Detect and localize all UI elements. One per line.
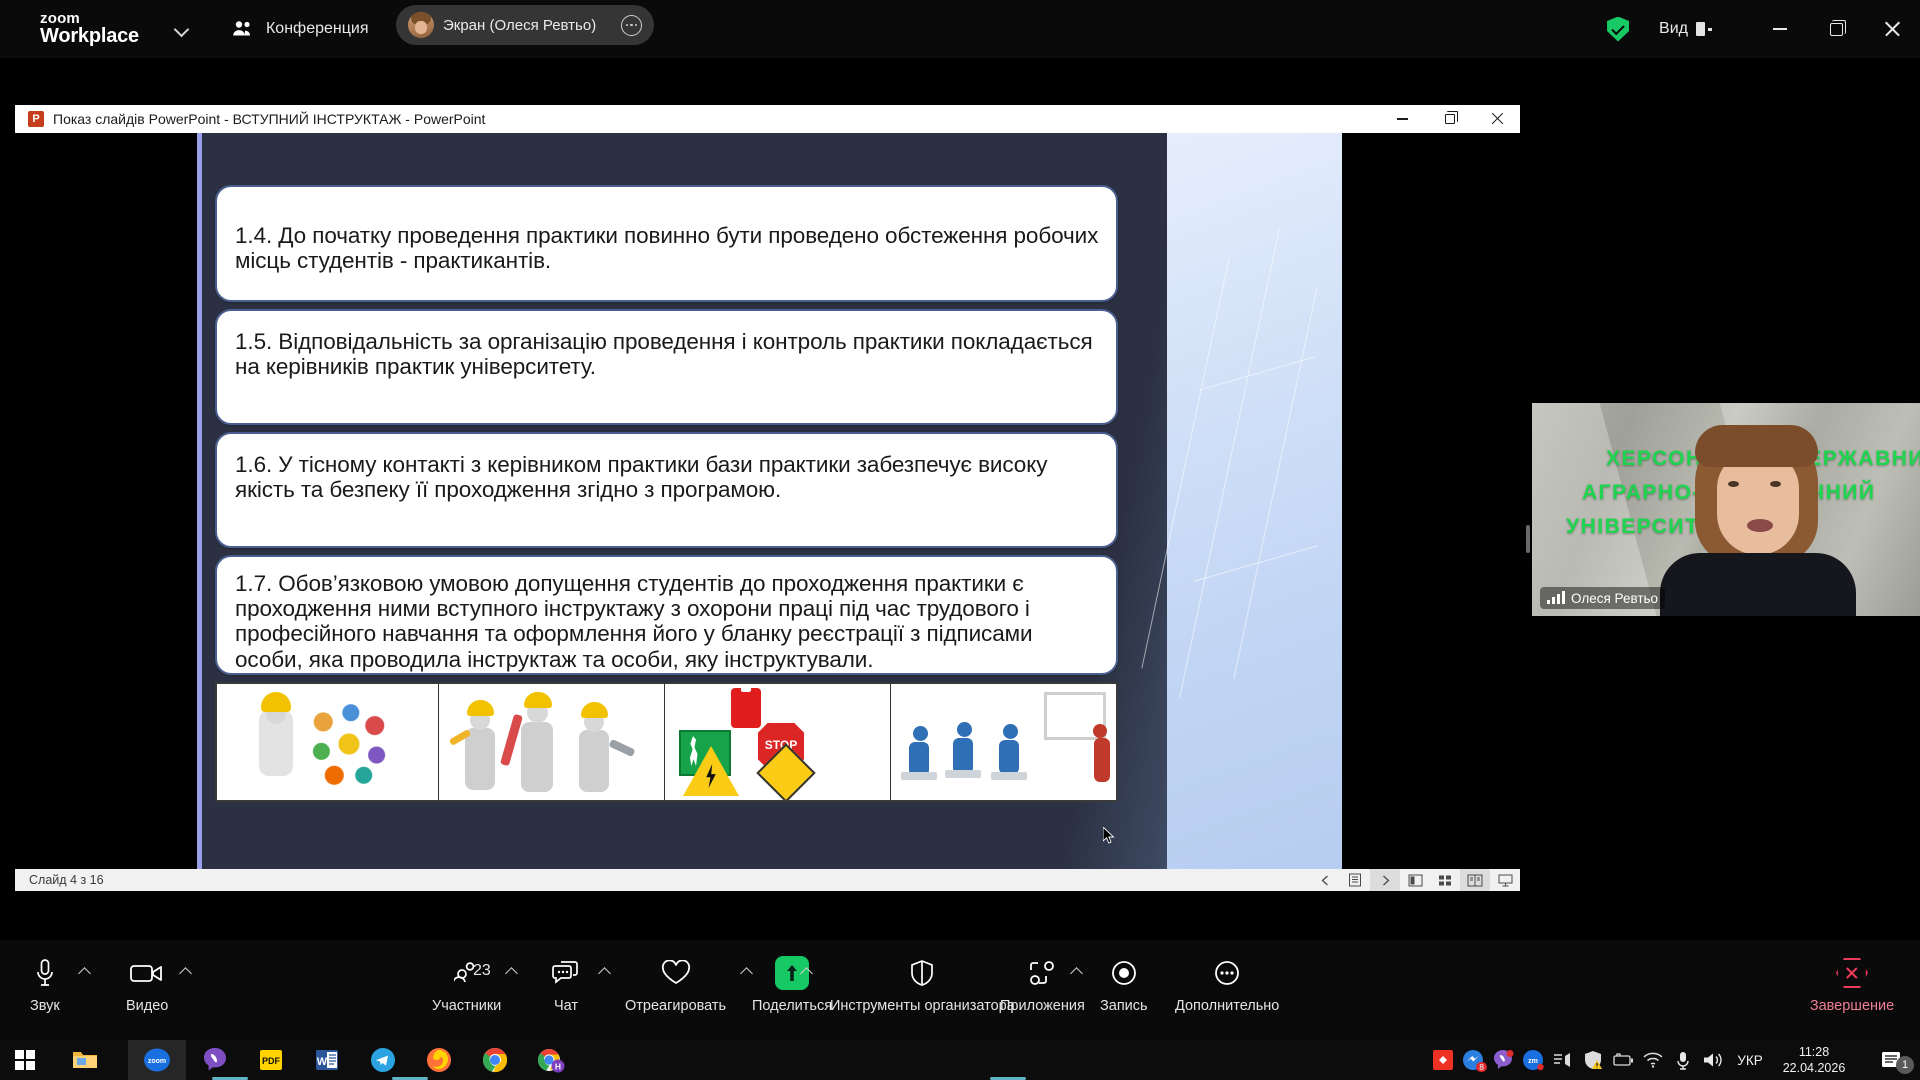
wifi-icon[interactable]	[1638, 1040, 1668, 1080]
share-label: Поделиться	[752, 998, 832, 1014]
record-icon	[1110, 954, 1138, 992]
viber-tray-icon[interactable]	[1488, 1040, 1518, 1080]
audio-options-caret-icon[interactable]	[78, 966, 92, 976]
ppt-maximize-button[interactable]	[1426, 105, 1473, 133]
share-options-caret-icon[interactable]	[800, 966, 814, 976]
anydesk-icon[interactable]	[1428, 1040, 1458, 1080]
windows-taskbar: zoom PDF W H 8 zm	[0, 1040, 1920, 1080]
svg-text:zoom: zoom	[148, 1058, 166, 1065]
participant-name: Олеся Ревтьо	[1571, 591, 1658, 606]
view-label: Вид	[1659, 20, 1688, 38]
slide-show-icon[interactable]	[1490, 869, 1520, 891]
end-call-icon	[1836, 954, 1868, 992]
chevron-down-icon[interactable]	[175, 22, 189, 36]
toolbar-video-button[interactable]: Видео	[126, 954, 168, 1014]
zoom-logo-line1: zoom	[40, 11, 139, 27]
reactions-label: Отреагировать	[625, 998, 726, 1014]
close-icon	[1884, 21, 1900, 37]
powerpoint-title: Показ слайдів PowerPoint - ВСТУПНИЙ ІНСТ…	[53, 111, 485, 127]
participant-body	[1660, 553, 1856, 616]
system-tray: 8 zm УКР	[1428, 1040, 1772, 1080]
zoom-icon[interactable]: zoom	[132, 1044, 182, 1076]
participant-eye-right	[1770, 481, 1781, 487]
telegram-icon[interactable]	[358, 1044, 408, 1076]
next-slide-icon[interactable]	[1370, 869, 1400, 891]
ppt-minimize-button[interactable]	[1379, 105, 1426, 133]
camera-icon	[129, 954, 165, 992]
titlebar-right-controls: Вид	[1607, 0, 1920, 58]
powerpoint-window-controls	[1379, 105, 1520, 133]
reading-view-icon[interactable]	[1460, 869, 1490, 891]
slide-text: 1.7. Обов’язковою умовою допущення студе…	[235, 571, 1102, 672]
clock-time: 11:28	[1766, 1044, 1862, 1060]
slide-sorter-icon[interactable]	[1430, 869, 1460, 891]
slide-text-box: 1.5. Відповідальність за організацію про…	[215, 309, 1118, 425]
security-warning-icon[interactable]	[1578, 1040, 1608, 1080]
toolbar-end-meeting-button[interactable]: Завершение	[1810, 954, 1894, 1014]
taskbar-clock[interactable]: 11:28 22.04.2026	[1766, 1044, 1862, 1076]
maximize-button[interactable]	[1808, 0, 1864, 58]
notes-icon[interactable]	[1340, 869, 1370, 891]
participant-video-tile[interactable]: ХЕРСОНСЬКИЙ ДЕРЖАВНИЙ АГРАРНО-ЕКОНОМІЧНИ…	[1532, 403, 1920, 616]
more-label: Дополнительно	[1175, 998, 1279, 1014]
word-icon[interactable]: W	[302, 1044, 352, 1076]
participant-eye-left	[1728, 481, 1739, 487]
mouse-cursor	[1103, 827, 1115, 844]
toolbar-record-button[interactable]: Запись	[1100, 954, 1148, 1014]
classroom-training-photo	[895, 684, 1116, 800]
zoom-logo-line2: Workplace	[40, 26, 139, 47]
slide-text-box: 1.6. У тісному контакті з керівником пра…	[215, 432, 1118, 548]
toolbar-share-button[interactable]: Поделиться	[752, 954, 832, 1014]
svg-text:H: H	[555, 1062, 561, 1072]
apps-label: Приложения	[1000, 998, 1085, 1014]
video-label: Видео	[126, 998, 168, 1014]
shared-screen-label: Экран (Олеся Ревтьо)	[443, 17, 612, 34]
previous-slide-icon[interactable]	[1310, 869, 1340, 891]
more-options-icon[interactable]	[621, 15, 642, 36]
more-dots-icon	[1213, 954, 1241, 992]
viber-icon[interactable]	[190, 1044, 240, 1076]
powerpoint-icon	[28, 111, 44, 127]
heart-icon	[661, 954, 691, 992]
shield-icon	[909, 954, 935, 992]
slide-decoration	[1167, 133, 1342, 869]
meeting-label: Конференция	[266, 20, 369, 38]
minimize-icon	[1397, 118, 1408, 119]
pdf-icon[interactable]: PDF	[246, 1044, 296, 1076]
restore-icon	[1830, 23, 1843, 36]
slide-text: 1.4. До початку проведення практики пови…	[235, 223, 1102, 273]
chrome-icon[interactable]	[470, 1044, 520, 1076]
toolbar-audio-button[interactable]: Звук	[30, 954, 60, 1014]
audio-label: Звук	[30, 998, 60, 1014]
zoom-meeting-toolbar: Звук Видео Участники 23 Чат Отреагироват…	[0, 940, 1920, 1040]
video-options-caret-icon[interactable]	[179, 966, 193, 976]
language-label: УКР	[1737, 1053, 1762, 1068]
toolbar-reactions-button[interactable]: Отреагировать	[625, 954, 726, 1014]
svg-text:zm: zm	[1528, 1058, 1538, 1065]
file-explorer-icon[interactable]	[60, 1044, 110, 1076]
chat-bubble-icon	[552, 954, 580, 992]
microphone-icon[interactable]	[1668, 1040, 1698, 1080]
minimize-button[interactable]	[1752, 0, 1808, 58]
slide-counter: Слайд 4 з 16	[29, 873, 104, 887]
safety-signs-photo: STOP	[669, 684, 891, 800]
shared-screen-area: Показ слайдів PowerPoint - ВСТУПНИЙ ІНСТ…	[15, 96, 1520, 908]
minimize-icon	[1773, 28, 1787, 30]
slide-accent-bar	[197, 133, 202, 869]
apps-options-caret-icon[interactable]	[1070, 966, 1084, 976]
view-button[interactable]: Вид	[1659, 20, 1712, 38]
windows-start-icon[interactable]	[0, 1044, 50, 1076]
workers-with-tools-photo	[443, 684, 665, 800]
meeting-tab[interactable]: Конференция	[232, 20, 369, 38]
participant-hair	[1695, 425, 1818, 467]
layout-icon	[1696, 22, 1712, 36]
slide-text: 1.6. У тісному контакті з керівником пра…	[235, 452, 1102, 502]
safety-worker-icons-photo	[217, 684, 439, 800]
slide-text: 1.5. Відповідальність за організацію про…	[235, 329, 1102, 379]
apps-icon	[1028, 954, 1056, 992]
avatar	[408, 12, 434, 38]
chat-options-caret-icon[interactable]	[598, 966, 612, 976]
record-label: Запись	[1100, 998, 1148, 1014]
chrome-profile-icon[interactable]: H	[526, 1044, 576, 1076]
participants-icon	[232, 20, 254, 38]
slide-canvas[interactable]: 1.4. До початку проведення практики пови…	[15, 133, 1520, 869]
normal-view-icon[interactable]	[1400, 869, 1430, 891]
restore-icon	[1445, 114, 1455, 124]
participants-count: 23	[473, 962, 491, 980]
close-button[interactable]	[1864, 0, 1920, 58]
network-signal-icon	[1547, 592, 1565, 604]
powerpoint-status-bar: Слайд 4 з 16	[15, 869, 1520, 891]
participants-options-caret-icon[interactable]	[505, 966, 519, 976]
battery-icon[interactable]	[1608, 1040, 1638, 1080]
toolbar-host-tools-button[interactable]: Инструменты организатора	[830, 954, 1015, 1014]
host-tools-label: Инструменты организатора	[830, 998, 1015, 1014]
end-meeting-label: Завершение	[1810, 998, 1894, 1014]
microphone-icon	[33, 954, 57, 992]
toolbar-apps-button[interactable]: Приложения	[1000, 954, 1085, 1014]
ppt-close-button[interactable]	[1473, 105, 1520, 133]
clock-date: 22.04.2026	[1766, 1060, 1862, 1076]
powerpoint-title-bar: Показ слайдів PowerPoint - ВСТУПНИЙ ІНСТ…	[15, 105, 1520, 133]
zoom-tray-icon[interactable]: zm	[1518, 1040, 1548, 1080]
slide-image-strip: STOP	[215, 682, 1118, 802]
shared-screen-pill[interactable]: Экран (Олеся Ревтьо)	[396, 5, 654, 45]
volume-icon[interactable]	[1698, 1040, 1728, 1080]
messenger-badge-count: 8	[1476, 1062, 1487, 1072]
participant-mouth	[1747, 519, 1773, 532]
slide-text-box: 1.7. Обов’язковою умовою допущення студе…	[215, 555, 1118, 675]
encryption-shield-icon[interactable]	[1607, 17, 1629, 42]
powerpoint-status-icons	[1310, 869, 1520, 891]
participants-label: Участники	[432, 998, 501, 1014]
messenger-badge-icon[interactable]: 8	[1458, 1040, 1488, 1080]
zoom-logo: zoom Workplace	[40, 11, 139, 48]
zoom-title-bar: zoom Workplace Конференция Экран (Олеся …	[0, 0, 1920, 58]
notification-count: 1	[1896, 1056, 1914, 1074]
chat-label: Чат	[554, 998, 578, 1014]
svg-text:W: W	[317, 1056, 328, 1068]
slide: 1.4. До початку проведення практики пови…	[197, 133, 1342, 869]
toolbar-more-button[interactable]: Дополнительно	[1175, 954, 1279, 1014]
close-icon	[1491, 113, 1503, 125]
svg-text:PDF: PDF	[262, 1056, 281, 1066]
slide-text-box: 1.4. До початку проведення практики пови…	[215, 185, 1118, 302]
network-mute-icon[interactable]	[1548, 1040, 1578, 1080]
toolbar-chat-button[interactable]: Чат	[552, 954, 580, 1014]
participant-name-label: Олеся Ревтьо	[1540, 587, 1665, 609]
panel-resize-handle[interactable]	[1526, 525, 1530, 553]
firefox-icon[interactable]	[414, 1044, 464, 1076]
